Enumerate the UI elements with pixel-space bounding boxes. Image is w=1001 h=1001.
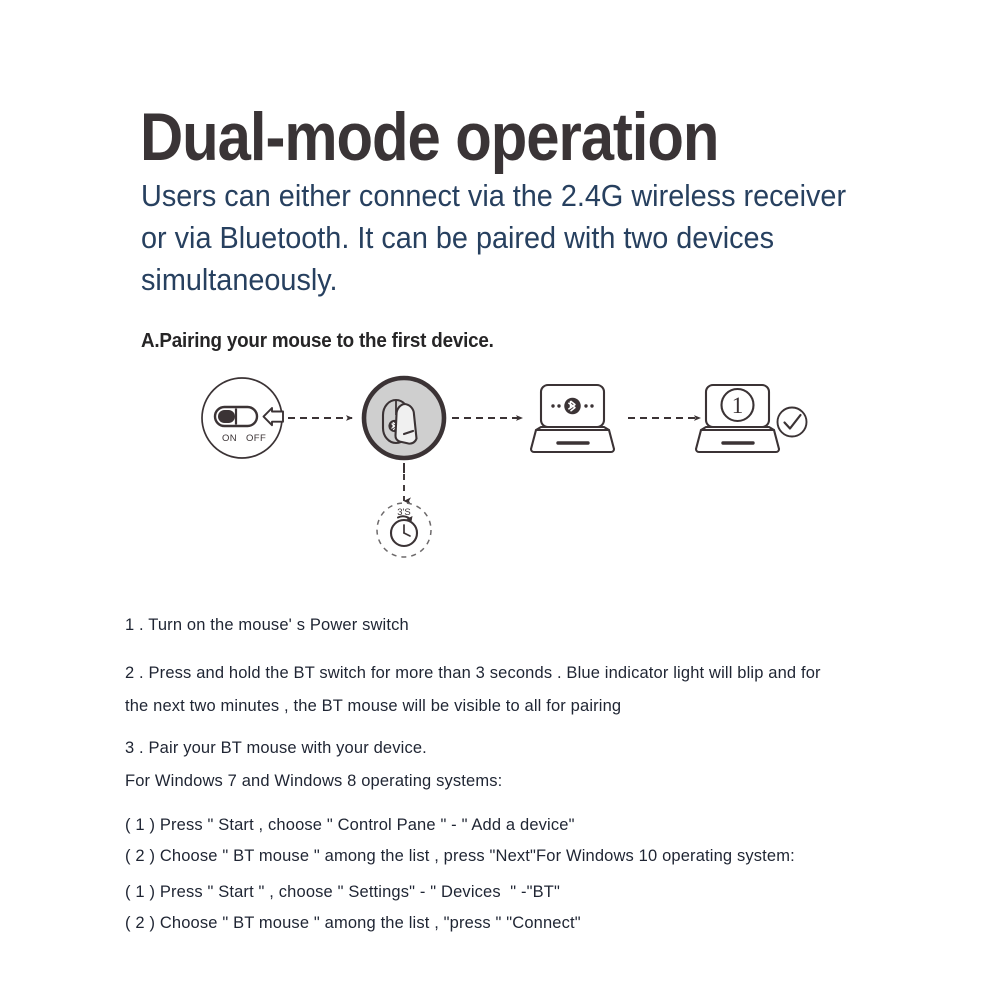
instruction-text: 1 . Turn on the mouse' s Power switch: [125, 609, 915, 642]
device-number-label: 1: [732, 393, 744, 418]
instruction-windows-10: ( 1 ) Press " Start " , choose " Setting…: [125, 860, 915, 955]
pairing-flow-diagram: ON OFF: [0, 360, 1001, 560]
laptop-bluetooth-icon: [531, 385, 614, 452]
section-heading-pairing: A.Pairing your mouse to the first device…: [141, 330, 494, 353]
stopwatch-3s-icon: 3'S: [377, 503, 431, 557]
laptop-device-number-icon: 1: [696, 385, 779, 452]
instruction-text: 2 . Press and hold the BT switch for mor…: [125, 657, 915, 723]
power-switch-circle-icon: ON OFF: [202, 378, 283, 458]
check-circle-icon: [778, 408, 807, 437]
page-subtitle: Users can either connect via the 2.4G wi…: [141, 175, 876, 301]
instruction-text: 3 . Pair your BT mouse with your device.…: [125, 732, 915, 798]
page-title: Dual-mode operation: [140, 100, 718, 174]
hand-pressing-mouse-bt-icon: [364, 378, 444, 473]
instruction-text: ( 1 ) Press " Start " , choose " Setting…: [125, 877, 915, 939]
svg-text:OFF: OFF: [246, 433, 266, 444]
page-root: Dual-mode operation Users can either con…: [0, 0, 1001, 1001]
svg-text:ON: ON: [222, 433, 237, 444]
